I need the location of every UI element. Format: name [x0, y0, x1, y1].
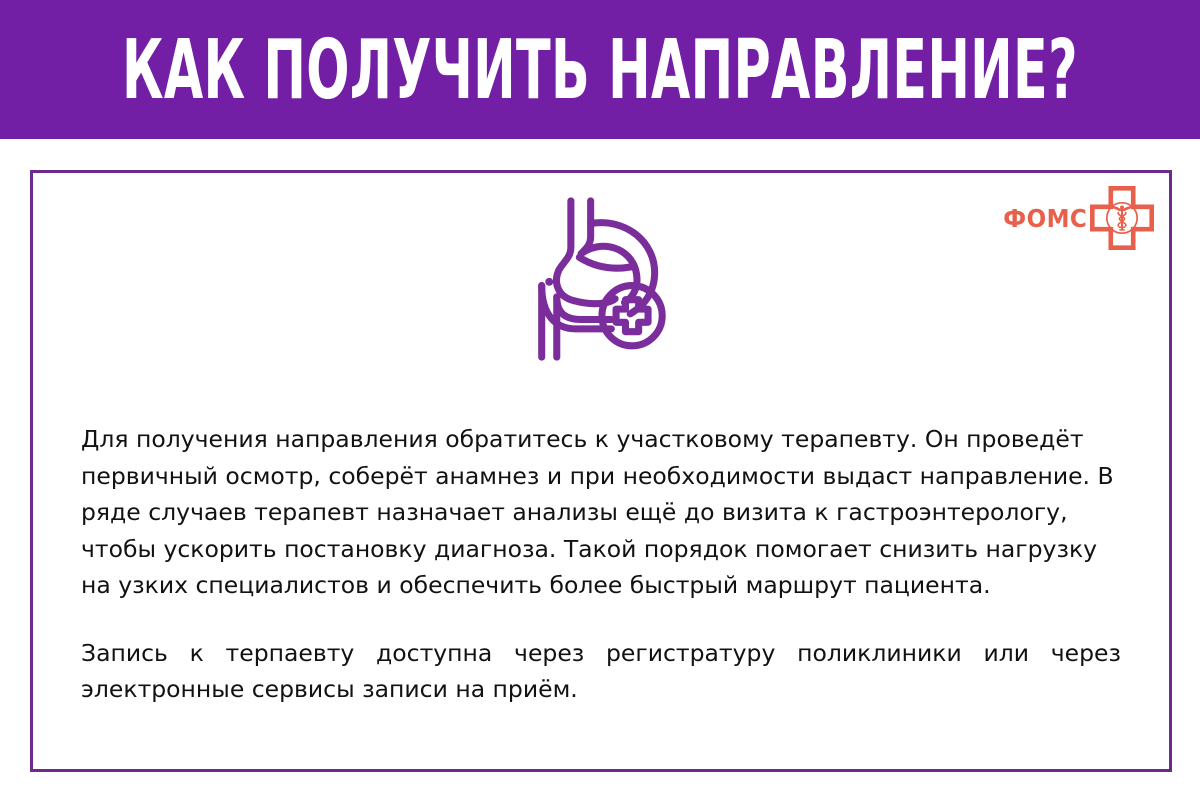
foms-wordmark: ФОМС [1003, 206, 1087, 231]
header-band: КАК ПОЛУЧИТЬ НАПРАВЛЕНИЕ? [0, 0, 1200, 139]
content-card: ФОМС [30, 170, 1172, 772]
stomach-gastroenterology-icon [521, 195, 681, 363]
body-copy: Для получения направления обратитесь к у… [81, 421, 1121, 708]
page-title: КАК ПОЛУЧИТЬ НАПРАВЛЕНИЕ? [122, 30, 1078, 112]
medical-cross-caduceus-icon [1089, 185, 1155, 251]
paragraph-referral-process: Для получения направления обратитесь к у… [81, 421, 1121, 604]
paragraph-appointment-booking: Запись к терпаевту доступна через регист… [81, 635, 1121, 708]
poster-root: КАК ПОЛУЧИТЬ НАПРАВЛЕНИЕ? ФОМС [0, 0, 1200, 800]
foms-logo: ФОМС [996, 181, 1155, 255]
